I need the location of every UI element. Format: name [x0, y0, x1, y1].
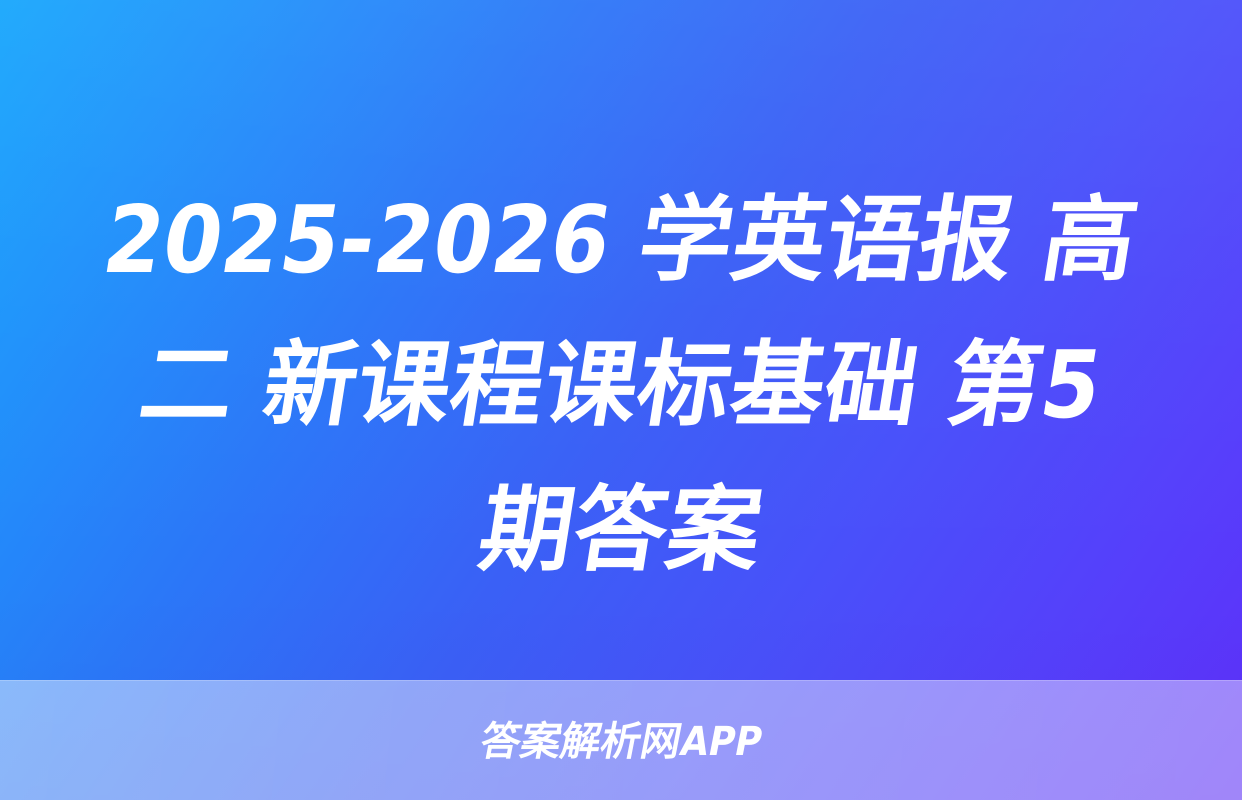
headline-block: 2025-2026 学英语报 高 二 新课程课标基础 第5 期答案	[0, 168, 1242, 616]
footer-brand-band: 答案解析网APP	[0, 680, 1242, 800]
headline-line-1: 2025-2026 学英语报 高	[0, 168, 1242, 313]
footer-brand-text: 答案解析网APP	[477, 722, 765, 762]
headline-line-3: 期答案	[0, 458, 1242, 603]
poster-canvas: 2025-2026 学英语报 高 二 新课程课标基础 第5 期答案 答案解析网A…	[0, 0, 1242, 800]
headline-line-2: 二 新课程课标基础 第5	[0, 313, 1242, 458]
